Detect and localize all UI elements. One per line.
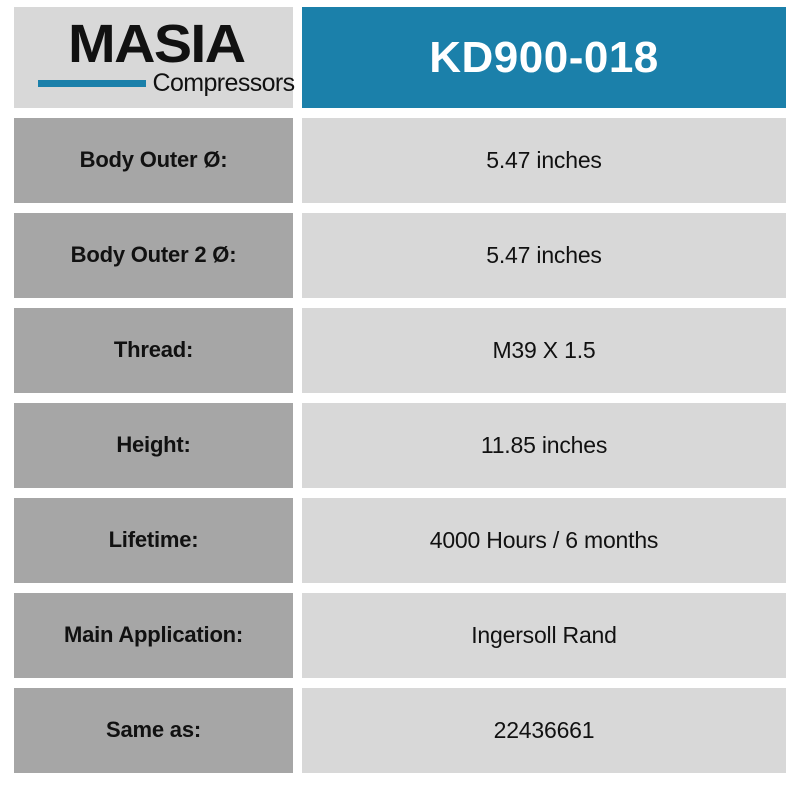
spec-label-text: Thread: (114, 338, 193, 362)
spec-label-text: Lifetime: (109, 528, 199, 552)
spec-label-text: Body Outer 2 Ø: (71, 243, 237, 267)
spec-label-cell: Height: (14, 403, 293, 488)
brand-rule-icon (38, 80, 146, 87)
brand-tagline-row: Compressors (38, 71, 270, 96)
table-row: Body Outer 2 Ø: 5.47 inches (14, 213, 786, 298)
spec-label-text: Height: (116, 433, 190, 457)
spec-value-text: 22436661 (494, 718, 595, 743)
brand-wordmark: MASIA (68, 19, 244, 70)
table-row: Lifetime: 4000 Hours / 6 months (14, 498, 786, 583)
spec-value-cell: 22436661 (302, 688, 786, 773)
table-row: Height: 11.85 inches (14, 403, 786, 488)
spec-label-cell: Body Outer 2 Ø: (14, 213, 293, 298)
spec-label-cell: Main Application: (14, 593, 293, 678)
spec-label-text: Same as: (106, 718, 201, 742)
spec-value-cell: Ingersoll Rand (302, 593, 786, 678)
brand-logo: MASIA Compressors (14, 7, 293, 108)
product-title-banner: KD900-018 (302, 7, 786, 108)
spec-label-cell: Same as: (14, 688, 293, 773)
spec-value-text: 11.85 inches (481, 433, 607, 458)
product-model-number: KD900-018 (429, 36, 659, 80)
spec-value-cell: 4000 Hours / 6 months (302, 498, 786, 583)
spec-label-cell: Body Outer Ø: (14, 118, 293, 203)
spec-value-cell: 5.47 inches (302, 118, 786, 203)
table-row: Thread: M39 X 1.5 (14, 308, 786, 393)
spec-value-text: 4000 Hours / 6 months (430, 528, 658, 553)
spec-value-text: M39 X 1.5 (492, 338, 595, 363)
spec-sheet-header: MASIA Compressors KD900-018 (14, 7, 786, 108)
spec-value-text: Ingersoll Rand (471, 623, 617, 648)
spec-value-cell: 5.47 inches (302, 213, 786, 298)
spec-label-cell: Thread: (14, 308, 293, 393)
spec-table: Body Outer Ø: 5.47 inches Body Outer 2 Ø… (14, 118, 786, 773)
spec-label-text: Main Application: (64, 623, 243, 647)
table-row: Same as: 22436661 (14, 688, 786, 773)
spec-value-text: 5.47 inches (486, 148, 601, 173)
table-row: Main Application: Ingersoll Rand (14, 593, 786, 678)
spec-value-text: 5.47 inches (486, 243, 601, 268)
spec-value-cell: M39 X 1.5 (302, 308, 786, 393)
spec-value-cell: 11.85 inches (302, 403, 786, 488)
brand-tagline: Compressors (153, 71, 295, 96)
product-spec-sheet: MASIA Compressors KD900-018 Body Outer Ø… (0, 0, 800, 800)
spec-label-text: Body Outer Ø: (80, 148, 228, 172)
spec-label-cell: Lifetime: (14, 498, 293, 583)
table-row: Body Outer Ø: 5.47 inches (14, 118, 786, 203)
